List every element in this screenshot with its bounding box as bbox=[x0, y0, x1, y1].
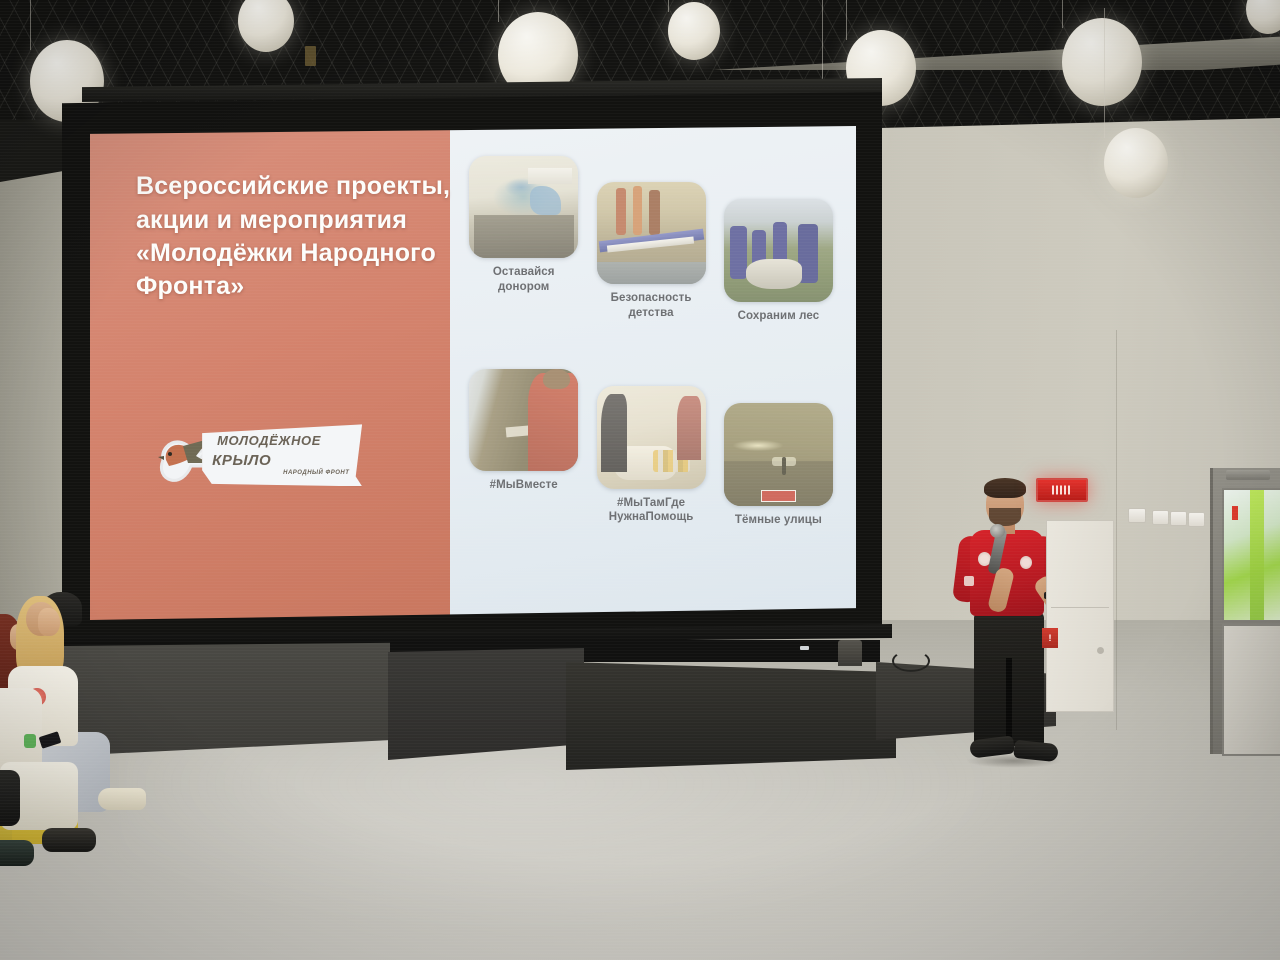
exit-sign-glyphs-icon bbox=[1052, 486, 1072, 495]
blood-donation-photo bbox=[469, 156, 578, 259]
lamp-cord bbox=[1104, 8, 1105, 138]
door-closer-arm bbox=[1226, 470, 1270, 480]
logo-line-3: НАРОДНЫЙ ФРОНТ bbox=[283, 470, 349, 476]
slide-title: Всероссийские проекты, акции и мероприят… bbox=[136, 170, 458, 303]
project-card: Оставайся донором bbox=[469, 156, 578, 295]
projection-screen: Всероссийские проекты, акции и мероприят… bbox=[62, 92, 882, 652]
light-switch[interactable] bbox=[1128, 508, 1146, 523]
presenter-beard bbox=[989, 508, 1021, 526]
photo-scene: Всероссийские проекты, акции и мероприят… bbox=[0, 0, 1280, 960]
dark-street-night-photo bbox=[724, 403, 833, 506]
emergency-exit-sign bbox=[1036, 478, 1088, 502]
audience-face bbox=[38, 608, 60, 636]
presenter-leg-gap bbox=[1006, 658, 1012, 746]
wall-seam bbox=[1116, 330, 1117, 730]
tshirt-sleeve-logo-icon bbox=[964, 576, 974, 586]
light-switch[interactable] bbox=[1170, 511, 1187, 526]
door-glass-panel bbox=[1222, 488, 1280, 622]
project-card: Безопасность детства bbox=[597, 182, 706, 321]
audience-sneaker bbox=[0, 840, 34, 866]
tshirt-logo-icon bbox=[1020, 556, 1032, 569]
fire-warning-label: ! bbox=[1042, 628, 1058, 648]
project-caption: Тёмные улицы bbox=[724, 513, 833, 528]
project-caption: #МыВместе bbox=[469, 478, 578, 493]
light-switch[interactable] bbox=[1152, 510, 1169, 525]
lamp-cord bbox=[30, 0, 31, 50]
door-lower-panel bbox=[1222, 624, 1280, 756]
cabinet-handle-icon[interactable] bbox=[1097, 647, 1104, 654]
audience-legs-dark bbox=[0, 770, 20, 826]
equipment-led-icon bbox=[800, 646, 809, 650]
presenter-hair bbox=[984, 478, 1026, 498]
corridor-green-wall bbox=[1250, 490, 1264, 620]
lamp-cord bbox=[668, 0, 669, 12]
playground-safety-photo bbox=[597, 182, 706, 285]
lamp-cord bbox=[498, 0, 499, 22]
lamp-cord bbox=[1062, 0, 1063, 28]
stage-riser-front bbox=[566, 662, 896, 770]
audio-cable bbox=[892, 650, 930, 672]
microphone-stand bbox=[838, 640, 862, 666]
lamp-cord bbox=[846, 0, 847, 40]
microphone-icon bbox=[990, 524, 1005, 538]
volunteer-red-jacket-photo bbox=[469, 369, 578, 472]
lamp-globe bbox=[1062, 18, 1142, 106]
ceiling-vent bbox=[305, 46, 316, 66]
project-caption: Оставайся донором bbox=[469, 265, 578, 294]
project-card: Тёмные улицы bbox=[724, 403, 833, 527]
project-card: Сохраним лес bbox=[724, 199, 833, 323]
project-caption: #МыТамГде НужнаПомощь bbox=[597, 496, 706, 525]
presentation-slide: Всероссийские проекты, акции и мероприят… bbox=[90, 126, 856, 620]
project-card: #МыВместе bbox=[469, 369, 578, 493]
project-card: #МыТамГде НужнаПомощь bbox=[597, 386, 706, 525]
lamp-globe bbox=[668, 2, 720, 60]
light-switch[interactable] bbox=[1188, 512, 1205, 527]
audience-sneaker bbox=[98, 788, 146, 810]
project-caption: Безопасность детства bbox=[597, 291, 706, 320]
audience-sneaker bbox=[42, 828, 96, 852]
corridor-red-object bbox=[1232, 506, 1238, 520]
lamp-globe bbox=[1104, 128, 1168, 198]
logo-line-1: МОЛОДЁЖНОЕ bbox=[217, 433, 321, 448]
wristband bbox=[24, 734, 36, 748]
audience-group bbox=[0, 592, 184, 892]
forest-cleanup-photo bbox=[724, 199, 833, 302]
project-caption: Сохраним лес bbox=[724, 309, 833, 324]
logo-line-2: КРЫЛО bbox=[212, 452, 271, 469]
project-photo-grid: Оставайся донором Безопасность детства bbox=[469, 156, 833, 591]
fire-hose-cabinet[interactable] bbox=[1046, 520, 1114, 712]
cabinet-seam bbox=[1051, 607, 1109, 608]
stage-riser-middle bbox=[388, 648, 584, 760]
humanitarian-aid-photo bbox=[597, 386, 706, 489]
